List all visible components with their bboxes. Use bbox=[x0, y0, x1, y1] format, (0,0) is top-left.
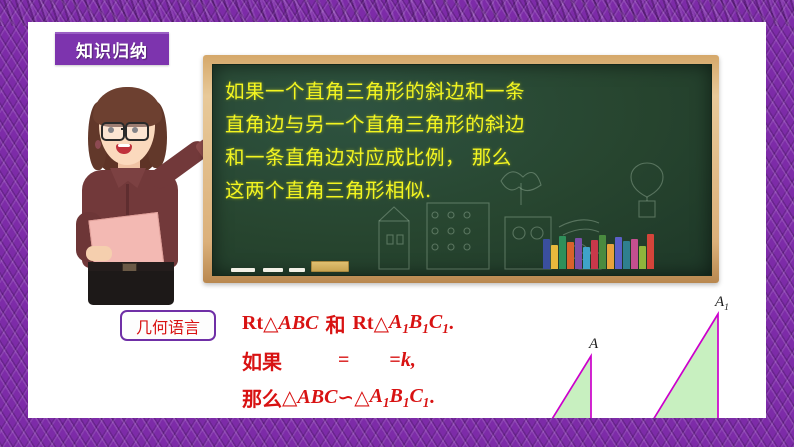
rt-prefix-1: Rt bbox=[242, 312, 263, 335]
book-spine bbox=[647, 234, 654, 269]
section-title-badge: 知识归纳 bbox=[55, 32, 169, 65]
section-title-text: 知识归纳 bbox=[76, 37, 148, 62]
label-b1: B1 bbox=[409, 311, 429, 337]
math-line-conclusion: 那么△ABC∽△A1B1C1. bbox=[242, 379, 454, 416]
math-line-condition: 如果==k, bbox=[242, 342, 454, 379]
slide-root: 知识归纳 bbox=[0, 0, 794, 447]
rt-prefix-2: Rt bbox=[352, 312, 373, 335]
teacher-left-hand bbox=[86, 246, 112, 261]
blackboard-line-2: 直角边与另一个直角三角形的斜边 bbox=[225, 108, 703, 141]
book-spine bbox=[575, 238, 582, 269]
label-c1: C1 bbox=[429, 311, 449, 337]
geometry-statement-block: Rt△ABC 和 Rt△A1B1C1. 如果==k, 那么△ABC∽△A1B1C… bbox=[242, 305, 454, 416]
triangle-symbol-icon: △ bbox=[263, 311, 278, 336]
vertex-label-B1: B1 bbox=[633, 416, 647, 418]
triangle-symbol-icon: △ bbox=[354, 385, 369, 410]
conclusion-prefix: 那么 bbox=[242, 383, 282, 412]
triangles-svg bbox=[523, 294, 766, 418]
book-spine bbox=[607, 244, 614, 269]
content-card: 知识归纳 bbox=[28, 22, 766, 418]
condition-prefix: 如果 bbox=[242, 346, 282, 375]
label-abc: ABC bbox=[279, 312, 319, 335]
math-line-triangles: Rt△ABC 和 Rt△A1B1C1. bbox=[242, 305, 454, 342]
book-spine bbox=[551, 245, 558, 269]
label-abc-2: ABC bbox=[297, 386, 337, 409]
label-a1-2: A1 bbox=[370, 385, 390, 411]
chalk-stick bbox=[231, 268, 255, 272]
book-spine bbox=[567, 242, 574, 269]
book-spine bbox=[559, 236, 566, 269]
geometry-language-label: 几何语言 bbox=[120, 310, 216, 341]
chalk-stick bbox=[263, 268, 283, 272]
conjunction-he: 和 bbox=[319, 309, 353, 338]
book-spine bbox=[599, 235, 606, 269]
triangle-A1B1C1-shape bbox=[653, 314, 718, 418]
vertex-label-A: A bbox=[589, 336, 598, 353]
label-a1: A1 bbox=[389, 311, 409, 337]
label-b1-2: B1 bbox=[390, 385, 410, 411]
equals-sign-1: = bbox=[338, 349, 349, 372]
ratio-constant-k: k, bbox=[401, 349, 416, 372]
triangle-diagrams: A B C A1 B1 C1 bbox=[523, 294, 766, 418]
teacher-illustration bbox=[48, 74, 228, 304]
equals-sign-2: = bbox=[389, 349, 400, 372]
book-spine bbox=[591, 240, 598, 269]
blackboard: 如果一个直角三角形的斜边和一条 直角边与另一个直角三角形的斜边 和一条直角边对应… bbox=[203, 55, 719, 283]
glasses-lens-right-icon bbox=[125, 122, 149, 141]
book-spine bbox=[631, 239, 638, 269]
blackboard-line-4: 这两个直角三角形相似. bbox=[225, 174, 703, 207]
triangle-symbol-icon: △ bbox=[374, 311, 389, 336]
similar-symbol-icon: ∽ bbox=[337, 385, 354, 410]
blackboard-line-3: 和一条直角边对应成比例， 那么 bbox=[225, 141, 703, 174]
glasses-lens-left-icon bbox=[101, 122, 125, 141]
teacher-earring bbox=[95, 140, 101, 149]
period-1: . bbox=[449, 312, 454, 335]
blackboard-theorem-text: 如果一个直角三角形的斜边和一条 直角边与另一个直角三角形的斜边 和一条直角边对应… bbox=[225, 75, 703, 207]
period-2: . bbox=[429, 386, 434, 409]
book-spine bbox=[639, 246, 646, 269]
label-c1-2: C1 bbox=[409, 385, 429, 411]
triangle-ABC-shape bbox=[549, 356, 591, 418]
chalk-eraser bbox=[311, 261, 349, 272]
book-spine bbox=[623, 241, 630, 269]
bookshelf-row bbox=[543, 234, 654, 269]
blackboard-surface: 如果一个直角三角形的斜边和一条 直角边与另一个直角三角形的斜边 和一条直角边对应… bbox=[212, 64, 712, 276]
teacher-hair-front bbox=[93, 87, 162, 127]
vertex-label-C1: C1 bbox=[722, 416, 737, 418]
glasses-bridge bbox=[121, 128, 127, 130]
book-spine bbox=[615, 237, 622, 269]
blackboard-line-1: 如果一个直角三角形的斜边和一条 bbox=[225, 75, 703, 108]
teacher-skirt bbox=[88, 271, 174, 305]
triangle-symbol-icon: △ bbox=[282, 385, 297, 410]
vertex-label-A1: A1 bbox=[715, 294, 729, 313]
geometry-language-text: 几何语言 bbox=[136, 314, 200, 338]
book-spine bbox=[583, 247, 590, 269]
book-spine bbox=[543, 239, 550, 269]
chalk-stick bbox=[289, 268, 305, 272]
